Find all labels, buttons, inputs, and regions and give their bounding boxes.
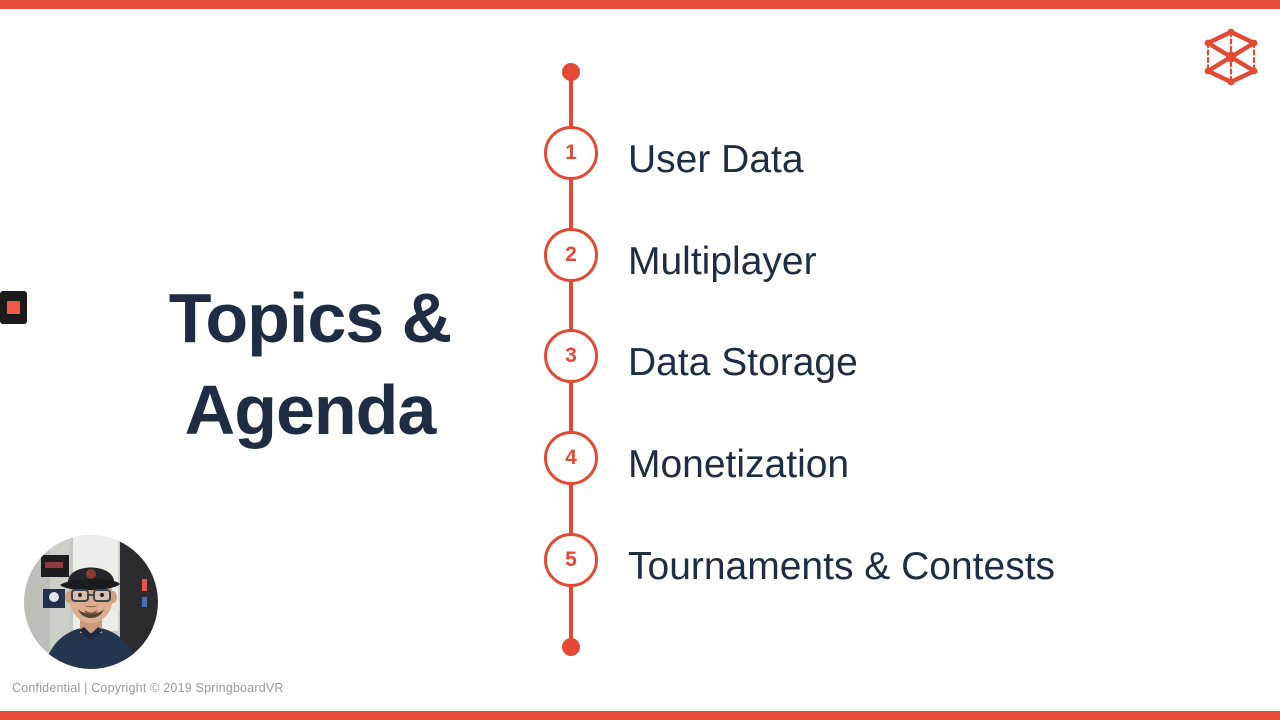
stop-square-icon [7,301,20,314]
agenda-item-label-3: Data Storage [628,343,858,382]
page-title: Topics & Agenda [120,272,500,457]
presenter-webcam-bubble[interactable] [24,535,158,669]
agenda-item-label-2: Multiplayer [628,242,817,281]
timeline-node-5[interactable]: 5 [544,533,598,587]
bottom-accent-bar [0,711,1280,720]
stop-recording-button[interactable] [0,291,27,324]
presentation-slide: Topics & Agenda 1 2 3 4 5 User Data Mult… [0,0,1280,720]
footer-copyright: Confidential | Copyright © 2019 Springbo… [12,681,284,695]
springboardvr-cube-logo-icon [1194,20,1268,94]
timeline-end-dot [562,638,580,656]
agenda-item-label-1: User Data [628,140,804,179]
page-title-line-1: Topics & [120,272,500,364]
top-accent-bar [0,0,1280,9]
agenda-timeline: 1 2 3 4 5 [544,55,600,665]
timeline-node-2[interactable]: 2 [544,228,598,282]
agenda-item-label-4: Monetization [628,445,849,484]
timeline-node-4[interactable]: 4 [544,431,598,485]
timeline-start-dot [562,63,580,81]
timeline-node-3[interactable]: 3 [544,329,598,383]
page-title-line-2: Agenda [120,364,500,456]
timeline-node-1[interactable]: 1 [544,126,598,180]
agenda-item-label-5: Tournaments & Contests [628,547,1055,586]
